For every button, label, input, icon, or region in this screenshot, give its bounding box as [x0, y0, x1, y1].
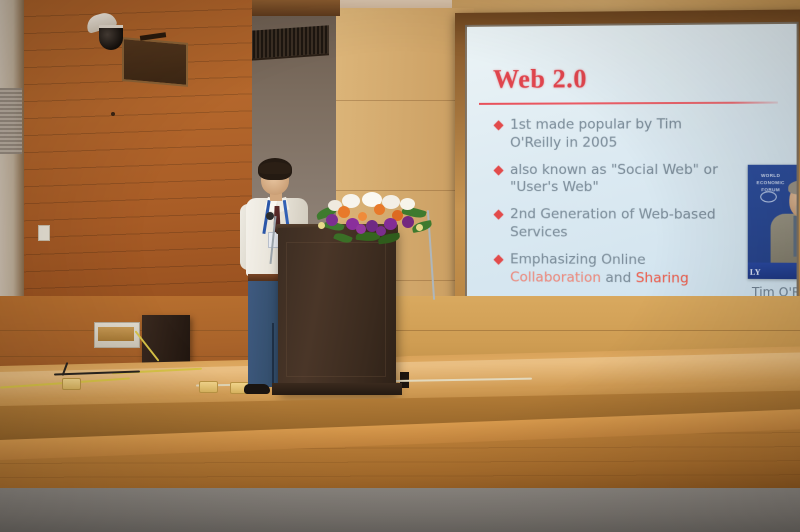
- carpet-floor: [0, 488, 800, 532]
- wall-box-face: [98, 327, 134, 341]
- bullet-text: also known as "Social Web" or "User's We…: [510, 161, 736, 197]
- diamond-bullet-icon: [494, 255, 504, 265]
- list-item: also known as "Social Web" or "User's We…: [495, 161, 786, 197]
- title-divider: [479, 102, 778, 105]
- diamond-bullet-icon: [494, 210, 504, 220]
- slide-bullet-list: 1st made popular by Tim O'Reilly in 2005…: [495, 116, 786, 298]
- list-item: 1st made popular by Tim O'Reilly in 2005: [495, 116, 786, 153]
- portrait-desk-text: LY: [750, 268, 761, 277]
- slide-title: Web 2.0: [493, 64, 587, 95]
- floral-arrangement: [316, 192, 434, 254]
- projection-screen: Web 2.0 1st made popular by Tim O'Reilly…: [455, 9, 800, 343]
- microphone-icon: [266, 212, 274, 220]
- highlight-sharing: Sharing: [636, 270, 689, 287]
- presenter-shoe-left: [244, 384, 270, 394]
- diamond-bullet-icon: [494, 120, 504, 130]
- presenter-fringe: [259, 162, 291, 174]
- bullet-middle-text: and: [601, 270, 636, 286]
- presentation-slide: Web 2.0 1st made popular by Tim O'Reilly…: [467, 24, 797, 317]
- highlight-collaboration: Collaboration: [510, 269, 601, 286]
- portrait-hair: [788, 180, 796, 194]
- list-item: 2nd Generation of Web-based Services: [495, 206, 786, 243]
- power-strip: [62, 378, 81, 390]
- portrait-shirt: [793, 216, 796, 257]
- air-vent-icon: [249, 25, 329, 61]
- alcove-lip: [245, 0, 340, 16]
- wall-screw-dot: [111, 112, 115, 116]
- podium-base: [272, 383, 402, 395]
- conference-photo: Web 2.0 1st made popular by Tim O'Reilly…: [0, 0, 800, 532]
- bullet-text: 2nd Generation of Web-based Services: [510, 206, 736, 243]
- bullet-text: 1st made popular by Tim O'Reilly in 2005: [510, 116, 736, 153]
- presenter-leg-seam: [272, 323, 274, 387]
- diamond-bullet-icon: [494, 165, 504, 175]
- wall-outlet-plate: [38, 225, 50, 241]
- podium-front-panel: [286, 242, 386, 377]
- wall-speaker-icon: [122, 37, 188, 87]
- forum-ring-icon: [760, 191, 777, 202]
- power-strip: [199, 381, 218, 393]
- tim-oreilly-photo: WORLD ECONOMIC FORUM WORLD ECONOMIC LY: [748, 165, 797, 280]
- dome-camera-icon: [99, 25, 123, 50]
- list-item: Emphasizing Online Collaboration and Sha…: [495, 251, 786, 289]
- screen-surface: Web 2.0 1st made popular by Tim O'Reilly…: [465, 22, 799, 319]
- bullet-text-emphasis: Emphasizing Online Collaboration and Sha…: [510, 251, 736, 288]
- bullet-lead-text: Emphasizing Online: [510, 251, 646, 268]
- wall-vent-icon: [0, 88, 22, 154]
